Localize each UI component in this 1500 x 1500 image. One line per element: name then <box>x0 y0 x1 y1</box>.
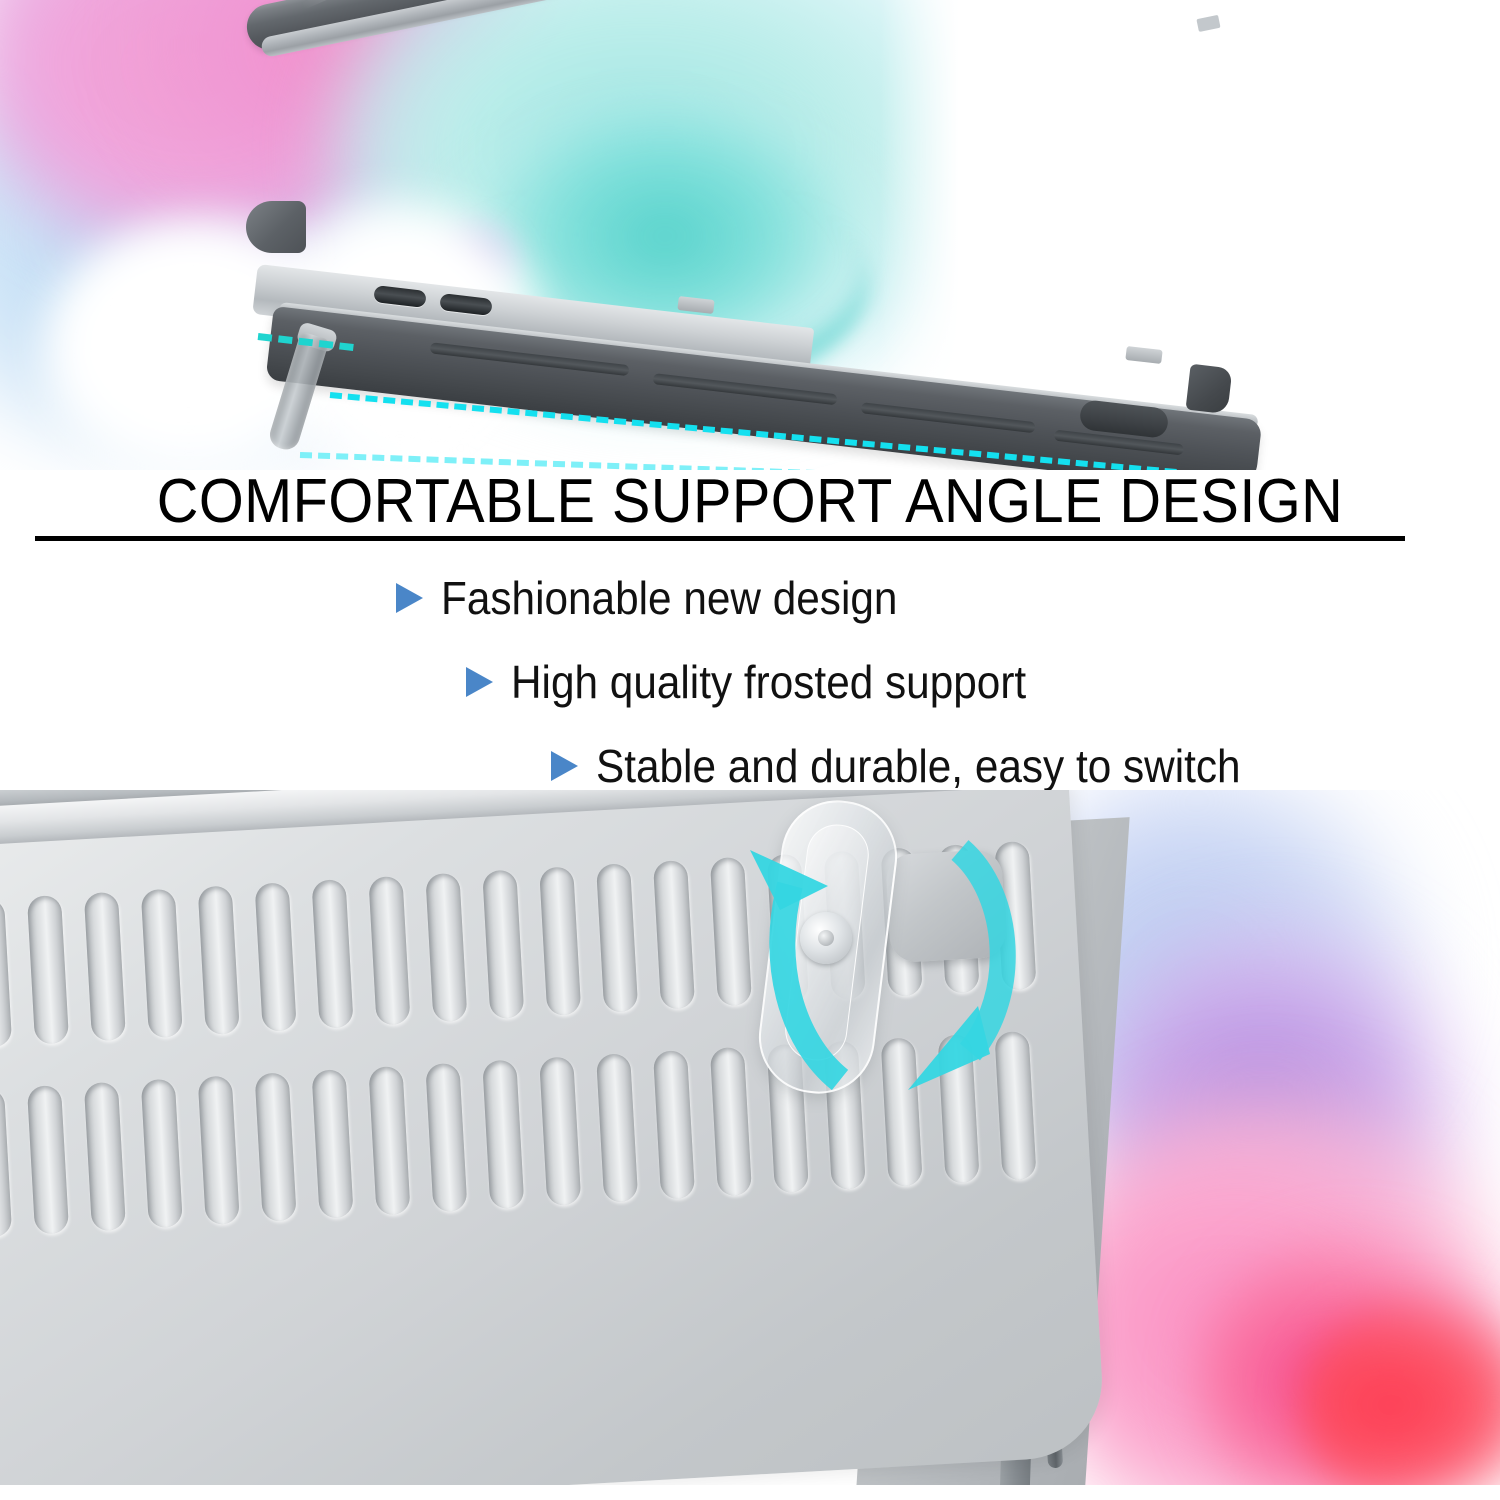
product-feature-banner: COMFORTABLE SUPPORT ANGLE DESIGN Fashion… <box>0 0 1500 1500</box>
vent-slot <box>84 892 126 1042</box>
page-title: COMFORTABLE SUPPORT ANGLE DESIGN <box>53 466 1448 537</box>
vent-slot <box>596 863 638 1013</box>
case-corner-cap <box>1185 364 1232 415</box>
vent-slot <box>311 1069 353 1219</box>
triangle-right-icon <box>396 583 423 613</box>
vent-slot <box>368 876 410 1026</box>
top-product-photo <box>0 0 1500 470</box>
vent-slot <box>425 1063 467 1213</box>
vent-slot <box>255 1072 297 1222</box>
lid-silver-edge <box>260 0 1212 58</box>
vent-slot <box>141 889 183 1039</box>
case-grip-ridge <box>430 342 630 376</box>
triangle-right-icon <box>466 667 493 697</box>
bottom-edge-spacer <box>0 1485 1500 1500</box>
rotation-arrow-down <box>908 850 1003 1090</box>
case-grip-ridge <box>653 373 838 405</box>
bullet-label: High quality frosted support <box>511 655 1026 709</box>
case-clip <box>1125 346 1162 364</box>
vent-slot <box>311 879 353 1029</box>
case-clip <box>677 296 714 314</box>
title-underline-rule <box>35 536 1405 541</box>
vent-slot <box>198 1075 240 1225</box>
vent-slot <box>255 882 297 1032</box>
triangle-right-icon <box>551 751 578 781</box>
bottom-product-photo <box>0 790 1500 1500</box>
vent-slot <box>425 873 467 1023</box>
vent-slot <box>84 1082 126 1232</box>
vent-slot <box>27 895 69 1045</box>
vent-slot <box>482 869 524 1019</box>
bullet-label: Fashionable new design <box>441 571 897 625</box>
laptop-lid <box>252 8 1252 273</box>
vent-slot <box>539 1056 581 1206</box>
vent-slot <box>539 866 581 1016</box>
vent-slot <box>198 885 240 1035</box>
vent-slot <box>0 1088 12 1238</box>
vent-slot <box>0 898 12 1048</box>
list-item: Fashionable new design <box>0 556 1500 640</box>
bullet-label: Stable and durable, easy to switch <box>596 739 1241 793</box>
rotation-arrows <box>640 790 1060 1130</box>
vent-slot <box>27 1085 69 1235</box>
lid-notch <box>1196 15 1220 32</box>
rotation-arrow-up <box>750 850 840 1080</box>
vent-slot <box>368 1066 410 1216</box>
vent-slot <box>596 1053 638 1203</box>
vent-slot <box>141 1079 183 1229</box>
lid-hinge-cap <box>246 201 306 253</box>
feature-bullet-list: Fashionable new design High quality fros… <box>0 556 1500 808</box>
vent-slot <box>482 1059 524 1209</box>
case-grip-ridge <box>861 402 1036 433</box>
list-item: High quality frosted support <box>0 640 1500 724</box>
